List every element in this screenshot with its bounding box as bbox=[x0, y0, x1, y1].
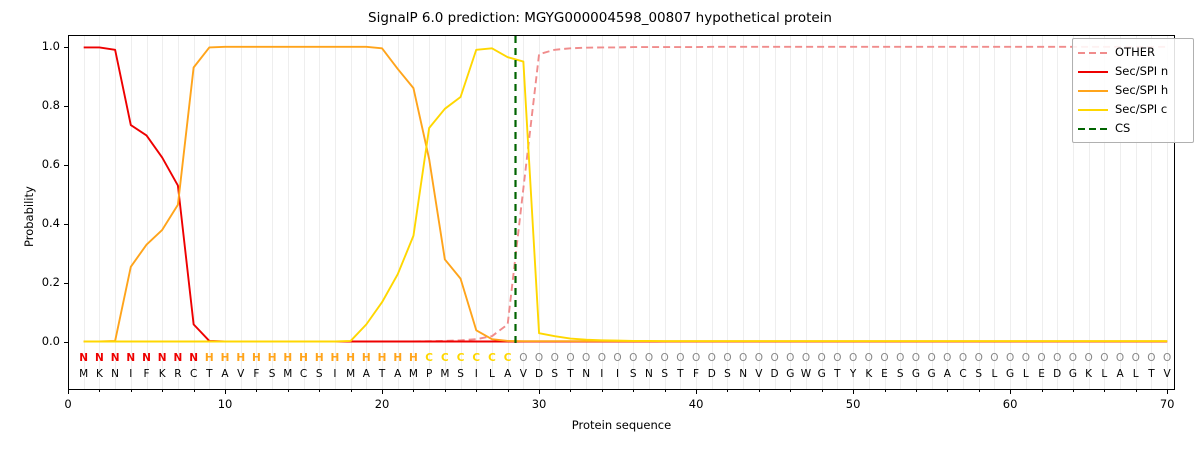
legend-label: Sec/SPI c bbox=[1115, 104, 1167, 115]
region-label: O bbox=[1128, 352, 1144, 364]
region-label: H bbox=[327, 352, 343, 364]
amino-acid-residue: G bbox=[814, 368, 830, 380]
region-label: C bbox=[484, 352, 500, 364]
region-label: N bbox=[107, 352, 123, 364]
legend-item: Sec/SPI n bbox=[1078, 62, 1187, 81]
amino-acid-residue: L bbox=[1018, 368, 1034, 380]
amino-acid-residue: A bbox=[217, 368, 233, 380]
amino-acid-residue: S bbox=[453, 368, 469, 380]
amino-acid-residue: K bbox=[861, 368, 877, 380]
amino-acid-residue: V bbox=[751, 368, 767, 380]
region-label: O bbox=[971, 352, 987, 364]
amino-acid-residue: A bbox=[500, 368, 516, 380]
amino-acid-residue: T bbox=[562, 368, 578, 380]
amino-acid-residue: D bbox=[704, 368, 720, 380]
region-label: O bbox=[1159, 352, 1175, 364]
region-label: O bbox=[594, 352, 610, 364]
region-label: O bbox=[1112, 352, 1128, 364]
amino-acid-residue: S bbox=[264, 368, 280, 380]
amino-acid-residue: E bbox=[1034, 368, 1050, 380]
amino-acid-residue: N bbox=[107, 368, 123, 380]
region-label: H bbox=[264, 352, 280, 364]
amino-acid-residue: D bbox=[1049, 368, 1065, 380]
region-label: H bbox=[201, 352, 217, 364]
legend-item: OTHER bbox=[1078, 43, 1187, 62]
legend-label: CS bbox=[1115, 123, 1130, 134]
region-label: H bbox=[358, 352, 374, 364]
region-label: C bbox=[500, 352, 516, 364]
amino-acid-residue: A bbox=[358, 368, 374, 380]
amino-acid-residue: L bbox=[1128, 368, 1144, 380]
region-label: O bbox=[1049, 352, 1065, 364]
amino-acid-residue: T bbox=[829, 368, 845, 380]
amino-acid-residue: E bbox=[877, 368, 893, 380]
region-label: O bbox=[1065, 352, 1081, 364]
amino-acid-residue: I bbox=[610, 368, 626, 380]
region-label: H bbox=[217, 352, 233, 364]
region-label: C bbox=[468, 352, 484, 364]
amino-acid-residue: M bbox=[280, 368, 296, 380]
chart-legend: OTHERSec/SPI nSec/SPI hSec/SPI cCS bbox=[1072, 38, 1194, 143]
legend-item: Sec/SPI c bbox=[1078, 100, 1187, 119]
region-label: O bbox=[767, 352, 783, 364]
region-label: N bbox=[139, 352, 155, 364]
legend-item: Sec/SPI h bbox=[1078, 81, 1187, 100]
region-label: O bbox=[1002, 352, 1018, 364]
amino-acid-residue: T bbox=[672, 368, 688, 380]
region-label: N bbox=[186, 352, 202, 364]
amino-acid-residue: M bbox=[437, 368, 453, 380]
region-label: O bbox=[719, 352, 735, 364]
amino-acid-residue: S bbox=[971, 368, 987, 380]
curve-other bbox=[84, 47, 1167, 342]
amino-acid-residue: T bbox=[1143, 368, 1159, 380]
region-label: O bbox=[625, 352, 641, 364]
region-label: H bbox=[280, 352, 296, 364]
region-label: O bbox=[798, 352, 814, 364]
legend-label: OTHER bbox=[1115, 47, 1155, 58]
amino-acid-residue: V bbox=[1159, 368, 1175, 380]
region-label: H bbox=[343, 352, 359, 364]
amino-acid-residue: L bbox=[484, 368, 500, 380]
amino-acid-residue: P bbox=[421, 368, 437, 380]
region-label: O bbox=[735, 352, 751, 364]
region-label: O bbox=[782, 352, 798, 364]
region-label: O bbox=[688, 352, 704, 364]
amino-acid-residue: N bbox=[578, 368, 594, 380]
region-label: C bbox=[437, 352, 453, 364]
region-label: O bbox=[641, 352, 657, 364]
amino-acid-residue: S bbox=[892, 368, 908, 380]
region-label: H bbox=[233, 352, 249, 364]
amino-acid-residue: D bbox=[531, 368, 547, 380]
region-label: O bbox=[877, 352, 893, 364]
region-label: O bbox=[1034, 352, 1050, 364]
amino-acid-residue: C bbox=[186, 368, 202, 380]
region-label: H bbox=[405, 352, 421, 364]
amino-acid-residue: A bbox=[390, 368, 406, 380]
legend-swatch bbox=[1078, 47, 1108, 58]
region-label: O bbox=[657, 352, 673, 364]
amino-acid-residue: R bbox=[170, 368, 186, 380]
region-label: O bbox=[1081, 352, 1097, 364]
amino-acid-residue: L bbox=[986, 368, 1002, 380]
amino-acid-residue: I bbox=[594, 368, 610, 380]
region-label: O bbox=[814, 352, 830, 364]
amino-acid-residue: S bbox=[657, 368, 673, 380]
region-label: O bbox=[845, 352, 861, 364]
amino-acid-residue: G bbox=[908, 368, 924, 380]
region-label: O bbox=[1096, 352, 1112, 364]
region-label: O bbox=[1143, 352, 1159, 364]
amino-acid-residue: G bbox=[1065, 368, 1081, 380]
amino-acid-residue: C bbox=[955, 368, 971, 380]
region-label: O bbox=[829, 352, 845, 364]
region-label: N bbox=[91, 352, 107, 364]
curve-sec-spi-n bbox=[84, 47, 1167, 341]
amino-acid-residue: S bbox=[547, 368, 563, 380]
region-label: O bbox=[986, 352, 1002, 364]
legend-swatch bbox=[1078, 66, 1108, 77]
region-label: O bbox=[861, 352, 877, 364]
amino-acid-residue: I bbox=[468, 368, 484, 380]
amino-acid-residue: M bbox=[76, 368, 92, 380]
region-label: N bbox=[76, 352, 92, 364]
amino-acid-residue: G bbox=[1002, 368, 1018, 380]
region-label: O bbox=[1018, 352, 1034, 364]
region-label: O bbox=[924, 352, 940, 364]
amino-acid-residue: V bbox=[515, 368, 531, 380]
region-label: O bbox=[751, 352, 767, 364]
region-label: O bbox=[908, 352, 924, 364]
amino-acid-residue: K bbox=[91, 368, 107, 380]
amino-acid-residue: K bbox=[1081, 368, 1097, 380]
amino-acid-residue: M bbox=[343, 368, 359, 380]
region-label: O bbox=[610, 352, 626, 364]
region-label: N bbox=[154, 352, 170, 364]
region-label: C bbox=[421, 352, 437, 364]
region-label: O bbox=[704, 352, 720, 364]
amino-acid-residue: M bbox=[405, 368, 421, 380]
legend-label: Sec/SPI h bbox=[1115, 85, 1168, 96]
region-label: H bbox=[248, 352, 264, 364]
region-label: O bbox=[939, 352, 955, 364]
amino-acid-residue: F bbox=[248, 368, 264, 380]
amino-acid-residue: T bbox=[201, 368, 217, 380]
region-label: N bbox=[170, 352, 186, 364]
amino-acid-residue: W bbox=[798, 368, 814, 380]
region-label: O bbox=[892, 352, 908, 364]
region-label: O bbox=[578, 352, 594, 364]
region-label: C bbox=[453, 352, 469, 364]
region-label: O bbox=[531, 352, 547, 364]
amino-acid-residue: D bbox=[767, 368, 783, 380]
amino-acid-residue: S bbox=[311, 368, 327, 380]
curve-layer bbox=[0, 0, 1200, 450]
amino-acid-residue: N bbox=[641, 368, 657, 380]
curve-sec-spi-c bbox=[84, 48, 1167, 341]
region-label: H bbox=[374, 352, 390, 364]
region-label: O bbox=[562, 352, 578, 364]
region-label: H bbox=[296, 352, 312, 364]
amino-acid-residue: V bbox=[233, 368, 249, 380]
amino-acid-residue: Y bbox=[845, 368, 861, 380]
amino-acid-residue: F bbox=[688, 368, 704, 380]
region-label: N bbox=[123, 352, 139, 364]
amino-acid-residue: T bbox=[374, 368, 390, 380]
region-label: O bbox=[515, 352, 531, 364]
amino-acid-residue: C bbox=[296, 368, 312, 380]
legend-label: Sec/SPI n bbox=[1115, 66, 1168, 77]
region-label: O bbox=[955, 352, 971, 364]
legend-item: CS bbox=[1078, 119, 1187, 138]
amino-acid-residue: S bbox=[719, 368, 735, 380]
region-label: O bbox=[672, 352, 688, 364]
amino-acid-residue: A bbox=[939, 368, 955, 380]
amino-acid-residue: L bbox=[1096, 368, 1112, 380]
amino-acid-residue: G bbox=[924, 368, 940, 380]
curve-sec-spi-h bbox=[84, 47, 1167, 342]
region-label: O bbox=[547, 352, 563, 364]
amino-acid-residue: K bbox=[154, 368, 170, 380]
amino-acid-residue: N bbox=[735, 368, 751, 380]
signalp-prediction-figure: SignalP 6.0 prediction: MGYG000004598_00… bbox=[0, 0, 1200, 450]
region-label: H bbox=[390, 352, 406, 364]
legend-swatch bbox=[1078, 104, 1108, 115]
amino-acid-residue: I bbox=[123, 368, 139, 380]
amino-acid-residue: G bbox=[782, 368, 798, 380]
amino-acid-residue: I bbox=[327, 368, 343, 380]
amino-acid-residue: A bbox=[1112, 368, 1128, 380]
region-label: H bbox=[311, 352, 327, 364]
amino-acid-residue: S bbox=[625, 368, 641, 380]
legend-swatch bbox=[1078, 85, 1108, 96]
amino-acid-residue: F bbox=[139, 368, 155, 380]
legend-swatch bbox=[1078, 123, 1108, 134]
